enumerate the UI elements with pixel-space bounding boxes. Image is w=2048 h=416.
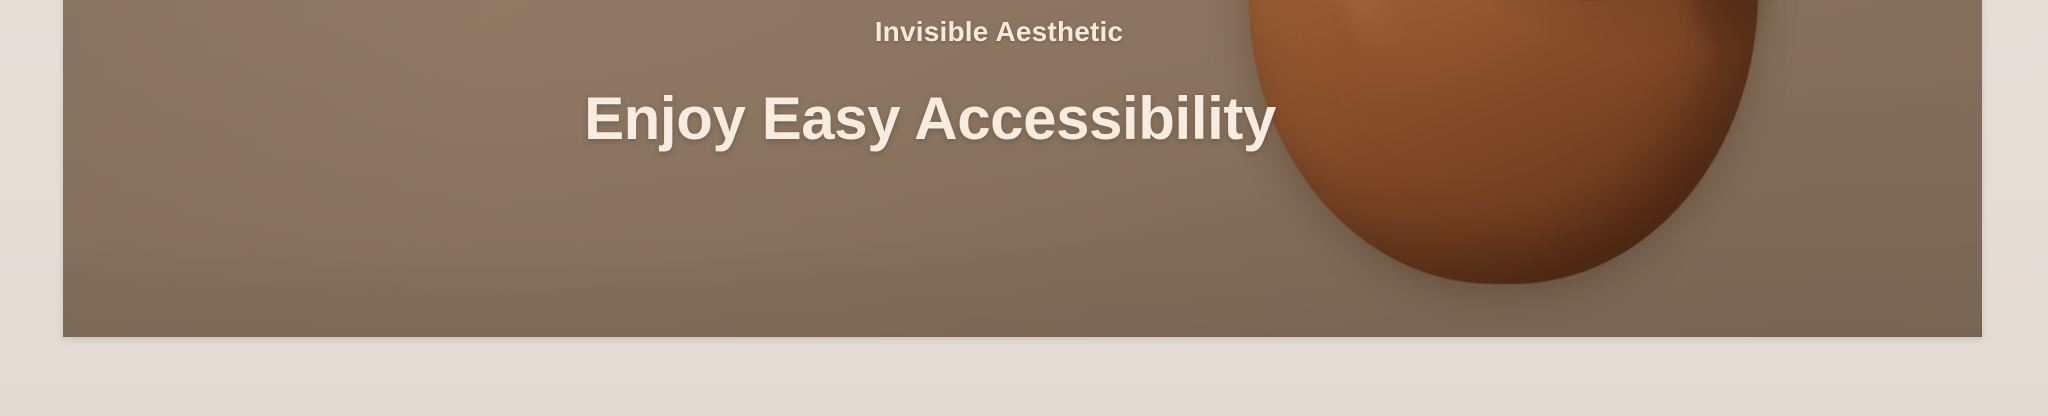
hero-banner-card[interactable]: Invisible Aesthetic Enjoy Easy Accessibi… [63,0,1982,337]
